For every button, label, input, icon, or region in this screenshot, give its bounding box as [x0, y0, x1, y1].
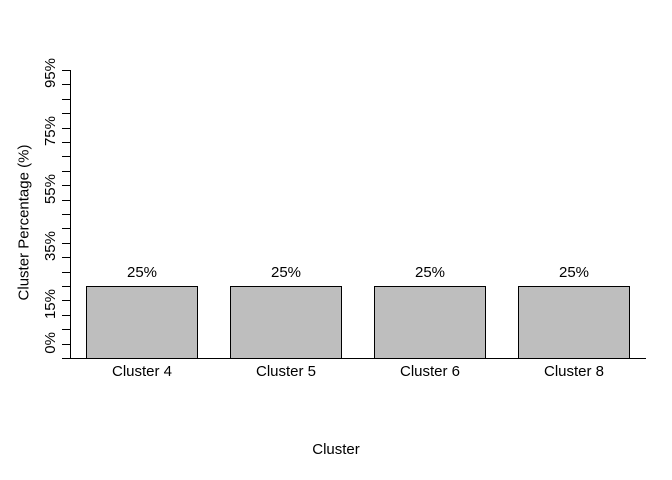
y-axis-tick-label: 95% [36, 58, 58, 110]
y-axis-tick [62, 243, 70, 244]
x-axis-category-label: Cluster 5 [216, 363, 356, 380]
bar-value-label: 25% [82, 265, 202, 280]
y-axis-tick [62, 272, 70, 273]
y-axis-tick-label: 15% [36, 289, 58, 341]
y-axis-tick [62, 142, 70, 143]
bar-value-label: 25% [370, 265, 490, 280]
y-axis-tick [62, 156, 70, 157]
x-axis-category-label: Cluster 4 [72, 363, 212, 380]
y-axis-tick-label-text: 35% [43, 231, 58, 261]
bar-value-label: 25% [226, 265, 346, 280]
y-axis-tick-label-text: 55% [43, 174, 58, 204]
y-axis-tick-label-text: 75% [43, 116, 58, 146]
y-axis-tick [62, 344, 70, 345]
x-axis-category-label: Cluster 6 [360, 363, 500, 380]
bar [86, 286, 198, 359]
y-axis-tick [62, 99, 70, 100]
y-axis-tick-label: 75% [36, 116, 58, 168]
y-axis-title: Cluster Percentage (%) [16, 113, 33, 333]
y-axis-tick [62, 358, 70, 359]
y-axis-tick [62, 171, 70, 172]
y-axis-tick-label: 55% [36, 174, 58, 226]
y-axis-tick [62, 257, 70, 258]
y-axis-tick [62, 113, 70, 114]
bar [518, 286, 630, 359]
y-axis-tick [62, 214, 70, 215]
y-axis-tick [62, 286, 70, 287]
bar-value-label: 25% [514, 265, 634, 280]
y-axis-tick [62, 228, 70, 229]
y-axis-tick [62, 84, 70, 85]
x-axis-category-label: Cluster 8 [504, 363, 644, 380]
y-axis-tick [62, 300, 70, 301]
bar [230, 286, 342, 359]
y-axis-tick-label-text: 95% [43, 58, 58, 88]
y-axis-line [70, 70, 71, 358]
y-axis-tick [62, 128, 70, 129]
bar [374, 286, 486, 359]
y-axis-tick [62, 200, 70, 201]
bar-chart: 0%15%35%55%75%95% 25%Cluster 425%Cluster… [0, 0, 672, 480]
y-axis-tick [62, 315, 70, 316]
y-axis-tick [62, 329, 70, 330]
y-axis-tick-label-text: 15% [43, 289, 58, 319]
y-axis-tick [62, 70, 70, 71]
x-axis-title: Cluster [0, 441, 672, 458]
y-axis-tick [62, 185, 70, 186]
y-axis-tick-label: 35% [36, 231, 58, 283]
